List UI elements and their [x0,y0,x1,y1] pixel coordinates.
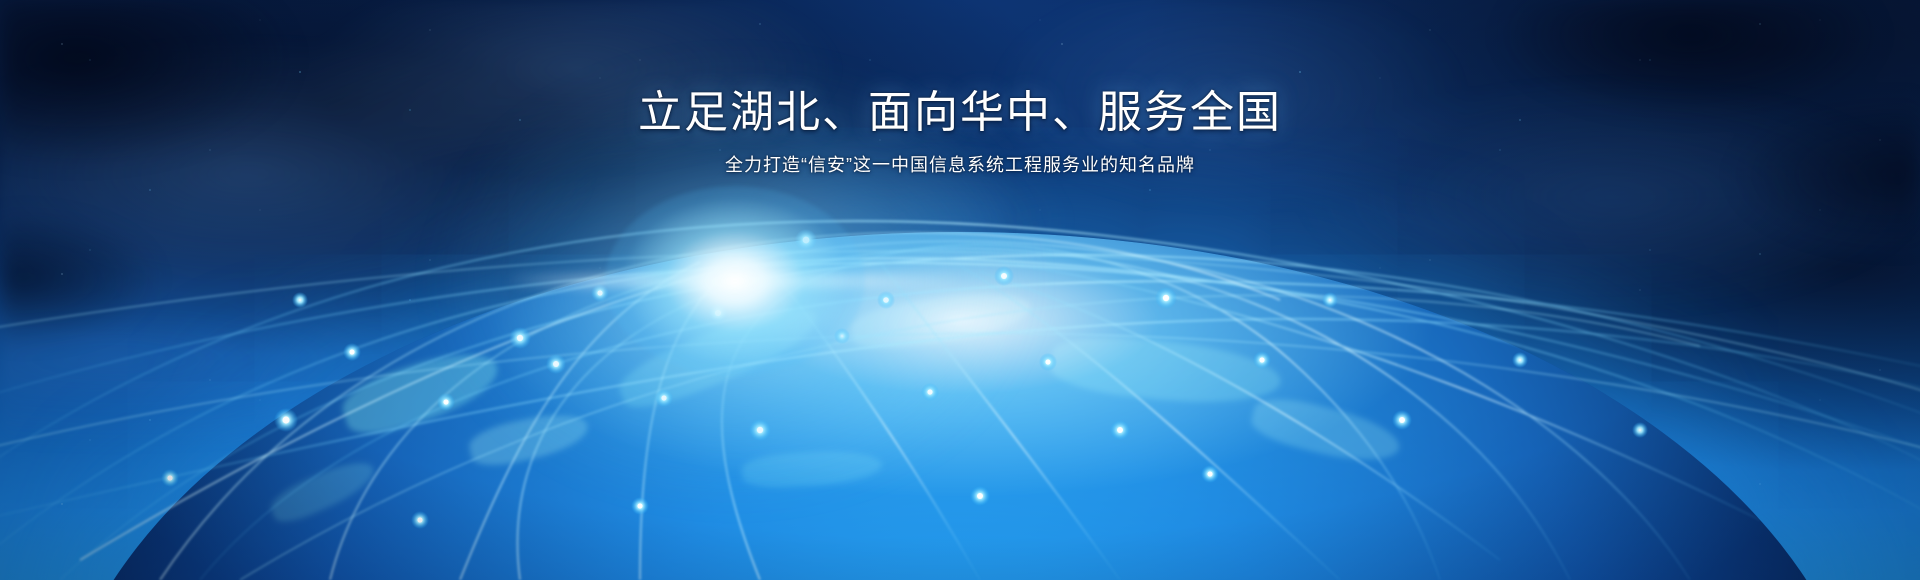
banner-copy: 立足湖北、面向华中、服务全国 全力打造“信安”这一中国信息系统工程服务业的知名品… [0,86,1920,178]
banner-subheadline: 全力打造“信安”这一中国信息系统工程服务业的知名品牌 [0,152,1920,178]
banner-headline: 立足湖北、面向华中、服务全国 [0,86,1920,140]
hero-banner: 立足湖北、面向华中、服务全国 全力打造“信安”这一中国信息系统工程服务业的知名品… [0,0,1920,580]
